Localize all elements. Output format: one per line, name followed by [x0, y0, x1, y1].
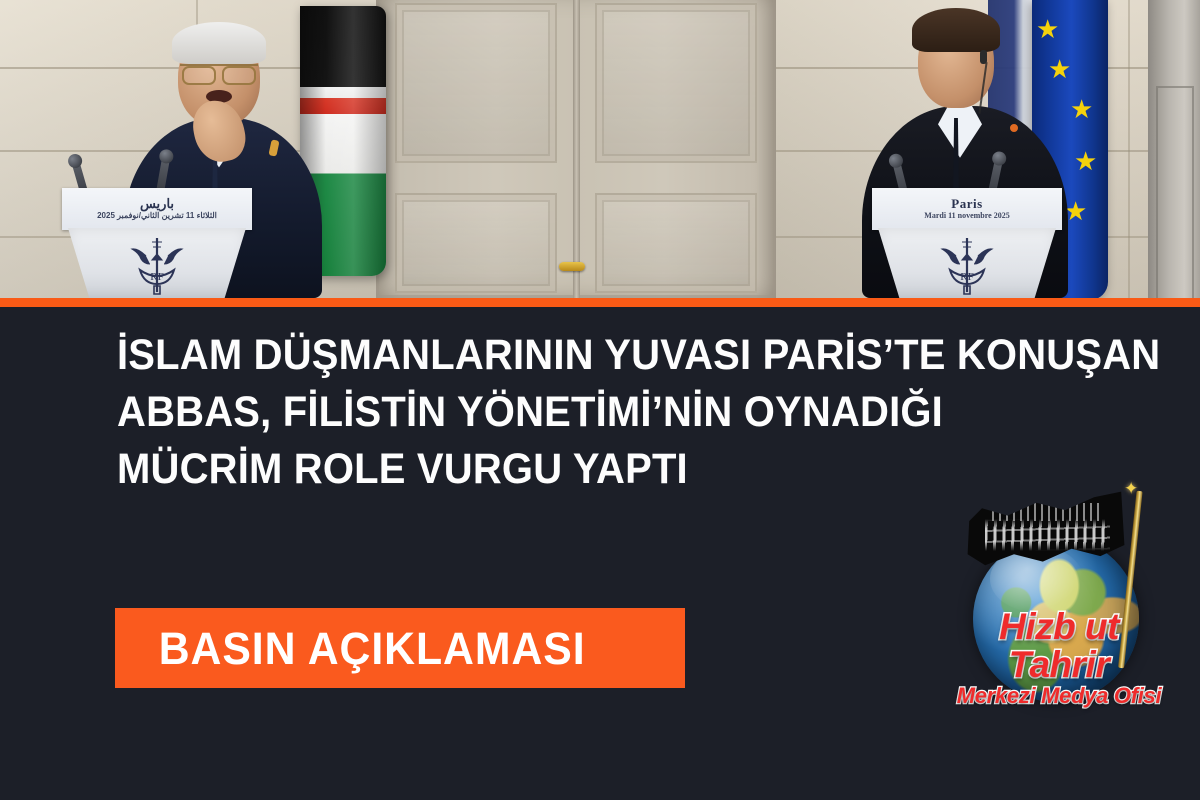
svg-text:RF: RF [960, 271, 973, 283]
earpiece-icon [980, 50, 987, 64]
press-release-label: BASIN AÇIKLAMASI [115, 626, 586, 671]
podium-date-label: الثلاثاء 11 تشرين الثاني/نوفمبر 2025 [97, 211, 217, 221]
pilaster-panel [1156, 86, 1194, 298]
shahada-line-lower [985, 519, 1110, 550]
hizb-ut-tahrir-logo: ✦ Hizb ut Tahrir Merkezi Medya Ofisi [948, 478, 1170, 706]
podium-left: باريس الثلاثاء 11 تشرين الثاني/نوفمبر 20… [62, 188, 252, 298]
wall-vertical-joint [1128, 0, 1130, 298]
news-poster: ★ ★ ★ ★ ★ ★ [0, 0, 1200, 800]
door-panel [395, 3, 557, 163]
hair [172, 22, 266, 64]
headline: İSLAM DÜŞMANLARININ YUVASI PARİS’TE KONU… [117, 327, 1157, 498]
press-release-banner: BASIN AÇIKLAMASI [115, 608, 685, 688]
doorway-pilaster [1148, 0, 1200, 298]
logo-subtitle: Merkezi Medya Ofisi [948, 684, 1170, 708]
french-republic-emblem: RF [128, 234, 186, 296]
svg-text:RF: RF [150, 271, 163, 283]
door-panel [595, 193, 757, 293]
door-leaf-right [576, 0, 776, 298]
press-conference-photo: ★ ★ ★ ★ ★ ★ [0, 0, 1200, 298]
podium-sign-right: Paris Mardi 11 novembre 2025 [872, 188, 1062, 230]
headline-line-1: İSLAM DÜŞMANLARININ YUVASI PARİS’TE KONU… [117, 327, 1084, 384]
lapel-pin-icon [1010, 124, 1018, 132]
door-panel [595, 3, 757, 163]
logo-title: Hizb ut Tahrir [948, 608, 1170, 684]
podium-sign-left: باريس الثلاثاء 11 تشرين الثاني/نوفمبر 20… [62, 188, 252, 230]
door-leaf-left [376, 0, 576, 298]
headline-line-2: ABBAS, FİLİSTİN YÖNETİMİ’NİN OYNADIĞI [117, 384, 1084, 441]
door-handle-icon [559, 262, 585, 271]
podium-right: Paris Mardi 11 novembre 2025 RF [872, 188, 1062, 298]
podium-date-label: Mardi 11 novembre 2025 [924, 211, 1009, 221]
podium-city-label: Paris [951, 197, 982, 211]
door-mullion [573, 0, 580, 298]
orange-divider [0, 298, 1200, 307]
door-panel [395, 193, 557, 293]
flagpole-star-icon: ✦ [1124, 480, 1138, 497]
french-republic-emblem: RF [938, 234, 996, 296]
headline-line-3: MÜCRİM ROLE VURGU YAPTI [117, 441, 1084, 498]
eyeglasses-icon [180, 64, 258, 79]
hair [912, 8, 1000, 52]
logo-text: Hizb ut Tahrir Merkezi Medya Ofisi [948, 608, 1170, 708]
elysee-double-door [376, 0, 776, 298]
podium-city-label: باريس [140, 197, 174, 211]
eu-star-icon: ★ [1074, 148, 1097, 174]
